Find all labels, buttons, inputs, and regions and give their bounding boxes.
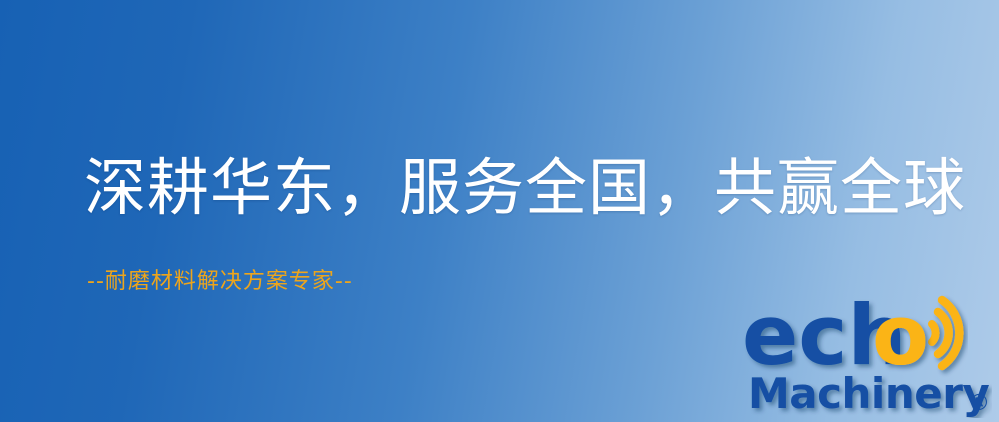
- page-title: 深耕华东，服务全国，共赢全球: [84, 152, 966, 224]
- hero-banner: 深耕华东，服务全国，共赢全球 --耐磨材料解决方案专家-- ech o: [0, 0, 999, 422]
- logo-tagline: Machinery: [748, 369, 989, 418]
- logo-graphic: ech o Machinery ®: [742, 292, 992, 418]
- page-subtitle: --耐磨材料解决方案专家--: [87, 268, 353, 296]
- registered-trademark-icon: ®: [968, 391, 990, 416]
- signal-waves-icon: [932, 300, 959, 366]
- company-logo[interactable]: ech o Machinery ®: [742, 292, 992, 418]
